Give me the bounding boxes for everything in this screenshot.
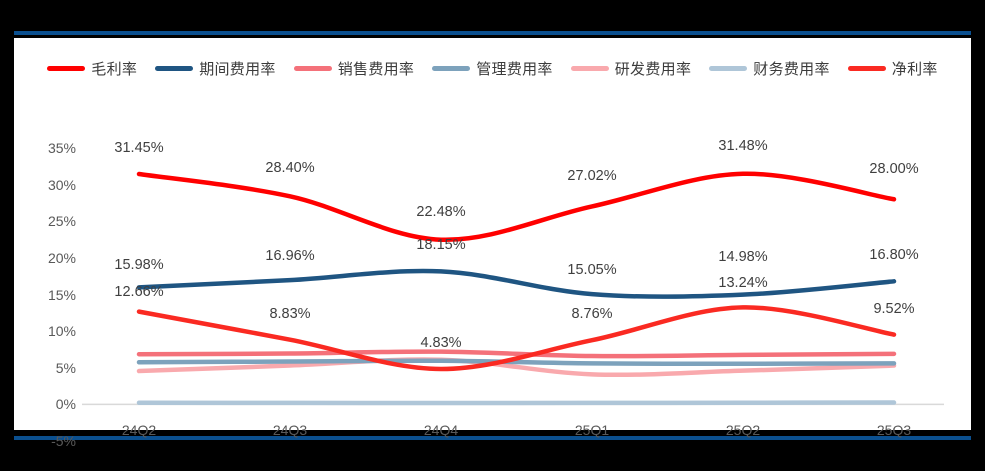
legend-label: 财务费用率 (753, 58, 830, 79)
legend-item-1[interactable]: 期间费用率 (155, 58, 276, 79)
legend-label: 管理费用率 (476, 58, 553, 79)
plot-area: 35%30%25%20%15%10%5%0%-5%24Q224Q324Q425Q… (14, 93, 971, 430)
series-line (139, 403, 894, 404)
legend-label: 净利率 (892, 58, 938, 79)
x-axis-tick-label: 24Q4 (424, 422, 458, 438)
legend-item-0[interactable]: 毛利率 (47, 58, 137, 79)
y-axis-tick-label: 30% (30, 177, 76, 193)
data-label: 15.05% (567, 262, 616, 278)
y-axis-tick-label: 10% (30, 323, 76, 339)
x-axis-tick-label: 24Q3 (273, 422, 307, 438)
y-axis-tick-label: -5% (30, 433, 76, 449)
y-axis-tick-label: 5% (30, 360, 76, 376)
y-axis-tick-label: 15% (30, 287, 76, 303)
data-label: 28.00% (869, 161, 918, 177)
legend-item-6[interactable]: 净利率 (848, 58, 938, 79)
legend-swatch-icon (848, 66, 886, 71)
data-label: 16.80% (869, 247, 918, 263)
data-label: 31.45% (114, 140, 163, 156)
y-axis-tick-label: 20% (30, 250, 76, 266)
legend-item-5[interactable]: 财务费用率 (709, 58, 830, 79)
data-label: 16.96% (265, 248, 314, 264)
x-axis-tick-label: 25Q3 (877, 422, 911, 438)
legend-item-3[interactable]: 管理费用率 (432, 58, 553, 79)
data-label: 31.48% (718, 138, 767, 154)
series-line (139, 352, 894, 357)
y-axis-tick-label: 35% (30, 140, 76, 156)
series-line (139, 174, 894, 240)
data-label: 8.76% (571, 306, 612, 322)
legend-swatch-icon (432, 66, 470, 71)
data-label: 27.02% (567, 168, 616, 184)
data-label: 12.66% (114, 284, 163, 300)
chart-legend: 毛利率期间费用率销售费用率管理费用率研发费用率财务费用率净利率 (14, 58, 971, 79)
data-label: 15.98% (114, 257, 163, 273)
x-axis-tick-label: 25Q1 (575, 422, 609, 438)
legend-label: 研发费用率 (615, 58, 692, 79)
legend-swatch-icon (294, 66, 332, 71)
legend-item-2[interactable]: 销售费用率 (294, 58, 415, 79)
top-divider-rule (14, 31, 971, 35)
legend-swatch-icon (155, 66, 193, 71)
data-label: 28.40% (265, 160, 314, 176)
legend-swatch-icon (571, 66, 609, 71)
data-label: 14.98% (718, 249, 767, 265)
data-label: 9.52% (873, 301, 914, 317)
legend-swatch-icon (47, 66, 85, 71)
data-label: 4.83% (420, 335, 461, 351)
legend-label: 销售费用率 (338, 58, 415, 79)
screenshot-root: 毛利率期间费用率销售费用率管理费用率研发费用率财务费用率净利率 35%30%25… (0, 0, 985, 471)
series-line (139, 361, 894, 364)
y-axis-tick-label: 25% (30, 213, 76, 229)
data-label: 8.83% (269, 306, 310, 322)
legend-label: 期间费用率 (199, 58, 276, 79)
series-line (139, 271, 894, 297)
data-label: 18.15% (416, 237, 465, 253)
data-label: 22.48% (416, 204, 465, 220)
x-axis-tick-label: 24Q2 (122, 422, 156, 438)
legend-item-4[interactable]: 研发费用率 (571, 58, 692, 79)
legend-swatch-icon (709, 66, 747, 71)
data-label: 13.24% (718, 275, 767, 291)
chart-panel: 毛利率期间费用率销售费用率管理费用率研发费用率财务费用率净利率 35%30%25… (14, 38, 971, 430)
bottom-divider-rule (14, 436, 971, 440)
legend-label: 毛利率 (91, 58, 137, 79)
y-axis-tick-label: 0% (30, 396, 76, 412)
x-axis-tick-label: 25Q2 (726, 422, 760, 438)
